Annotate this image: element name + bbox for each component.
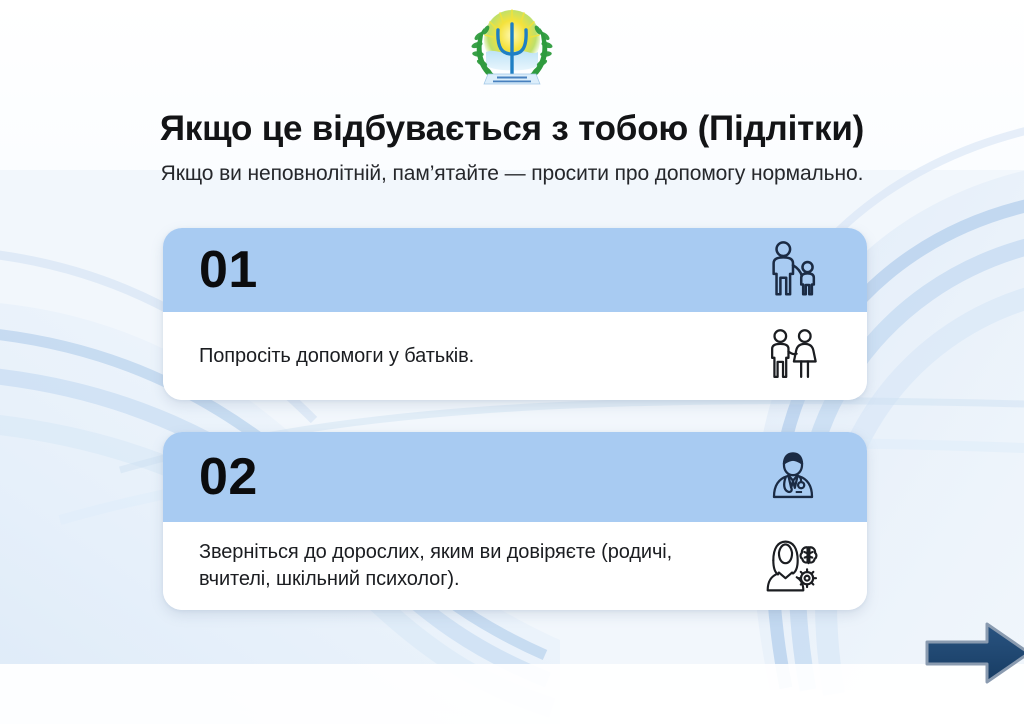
card-01-header: 01	[163, 228, 867, 312]
psychology-association-emblem-icon	[464, 4, 560, 90]
card-01-body: Попросіть допомоги у батьків.	[163, 312, 867, 400]
card-02-header: 02	[163, 432, 867, 522]
slide-root: Якщо це відбувається з тобою (Підлітки) …	[0, 0, 1024, 724]
card-02-number: 02	[199, 451, 258, 503]
page-subtitle: Якщо ви неповнолітній, пам’ятайте — прос…	[0, 161, 1024, 186]
couple-holding-hands-icon	[761, 324, 825, 388]
heading-block: Якщо це відбувається з тобою (Підлітки) …	[0, 108, 1024, 186]
doctor-with-stethoscope-icon	[761, 445, 825, 509]
page-title: Якщо це відбувається з тобою (Підлітки)	[0, 108, 1024, 149]
card-02-text: Зверніться до дорослих, яким ви довіряєт…	[199, 539, 719, 593]
step-card-02[interactable]: 02	[163, 432, 867, 610]
psychologist-brain-gear-icon	[761, 534, 825, 598]
step-card-01[interactable]: 01 Попросіть допомоги у батьків.	[163, 228, 867, 400]
next-slide-arrow[interactable]	[925, 620, 1024, 686]
card-01-number: 01	[199, 244, 258, 296]
organization-logo	[464, 4, 560, 90]
arrow-right-icon[interactable]	[925, 620, 1024, 686]
parent-and-child-icon	[761, 238, 825, 302]
card-01-text: Попросіть допомоги у батьків.	[199, 343, 474, 370]
card-02-body: Зверніться до дорослих, яким ви довіряєт…	[163, 522, 867, 610]
